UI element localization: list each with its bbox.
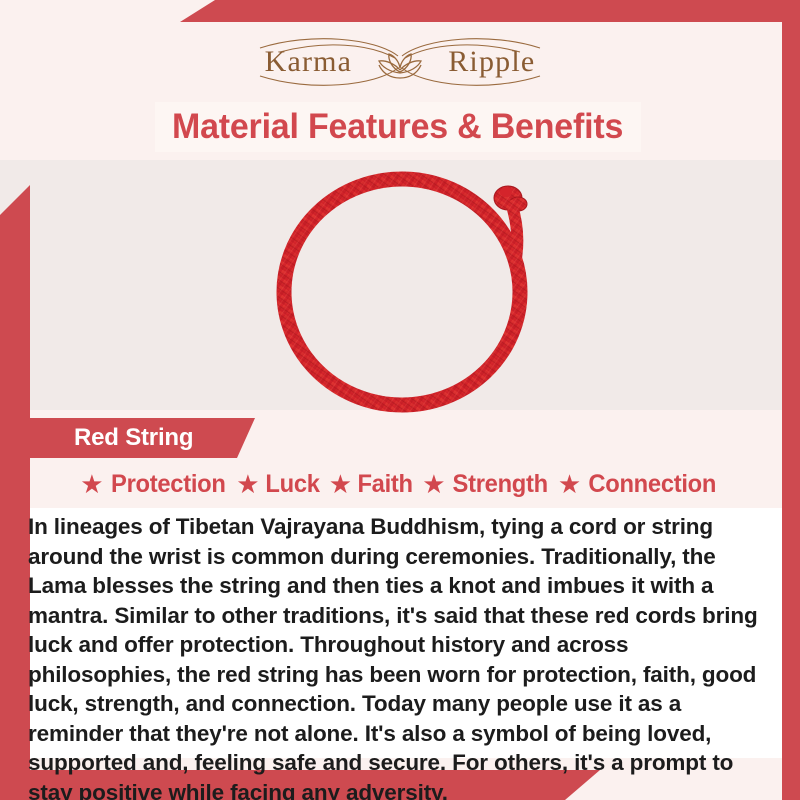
star-icon: ★ — [80, 471, 103, 497]
feature-item-luck: ★ Luck — [236, 470, 320, 499]
brand-name-right: Ripple — [448, 45, 535, 79]
material-banner-label: Red String — [74, 424, 193, 452]
feature-label: Faith — [357, 470, 412, 499]
brand-logo: Karma Ripple — [0, 34, 800, 90]
product-photo — [30, 160, 782, 410]
star-icon: ★ — [558, 471, 581, 497]
title-ribbon: Material Features & Benefits — [155, 102, 641, 152]
feature-label: Protection — [111, 470, 226, 499]
description-paragraph: In lineages of Tibetan Vajrayana Buddhis… — [28, 512, 776, 800]
star-icon: ★ — [422, 471, 445, 497]
feature-label: Luck — [265, 470, 319, 499]
feature-item-strength: ★ Strength — [422, 470, 550, 499]
feature-item-faith: ★ Faith — [329, 470, 415, 499]
feature-label: Connection — [589, 470, 717, 499]
red-string-bracelet-illustration — [250, 170, 570, 420]
frame-bar-right — [782, 0, 800, 800]
infographic-page: Karma Ripple Material Features & Benefit… — [0, 0, 800, 800]
features-list: ★ Protection ★ Luck ★ Faith ★ Strength ★… — [30, 464, 770, 504]
feature-label: Strength — [452, 470, 547, 499]
star-icon: ★ — [236, 471, 259, 497]
material-banner: Red String — [30, 418, 255, 458]
star-icon: ★ — [329, 471, 352, 497]
page-title: Material Features & Benefits — [172, 107, 623, 147]
feature-item-connection: ★ Connection — [558, 470, 720, 499]
feature-item-protection: ★ Protection — [80, 470, 228, 499]
brand-name-left: Karma — [265, 45, 353, 79]
